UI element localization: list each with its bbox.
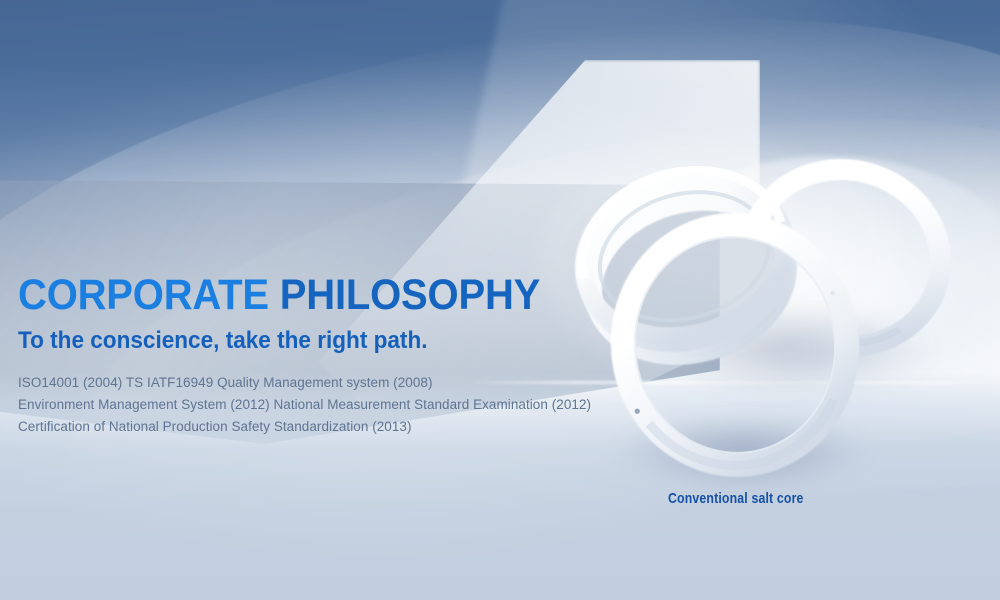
headline-text-block: CORPORATE PHILOSOPHY To the conscience, … bbox=[18, 272, 638, 438]
background-disc-shape bbox=[610, 156, 1000, 468]
page-subtitle: To the conscience, take the right path. bbox=[18, 327, 601, 355]
certification-item: Environment Management System (2012) Nat… bbox=[18, 394, 638, 416]
page-title-word-secondary: PHILOSOPHY bbox=[280, 271, 540, 319]
certification-item: ISO14001 (2004) TS IATF16949 Quality Man… bbox=[18, 372, 638, 394]
page-title: CORPORATE PHILOSOPHY bbox=[18, 272, 595, 318]
ring-shadow-back bbox=[640, 302, 940, 398]
corporate-philosophy-banner: CORPORATE PHILOSOPHY To the conscience, … bbox=[0, 0, 1000, 600]
salt-core-ring-front bbox=[607, 211, 862, 480]
ring-pinhole bbox=[830, 290, 835, 295]
product-caption: Conventional salt core bbox=[668, 490, 804, 507]
ring-pinhole bbox=[815, 339, 820, 344]
page-title-word-primary: CORPORATE bbox=[18, 271, 269, 319]
ring-shadow-front bbox=[610, 412, 874, 492]
certification-item: Certification of National Production Saf… bbox=[18, 416, 638, 438]
salt-core-ring-back-right bbox=[730, 149, 959, 369]
certification-list: ISO14001 (2004) TS IATF16949 Quality Man… bbox=[18, 372, 638, 438]
